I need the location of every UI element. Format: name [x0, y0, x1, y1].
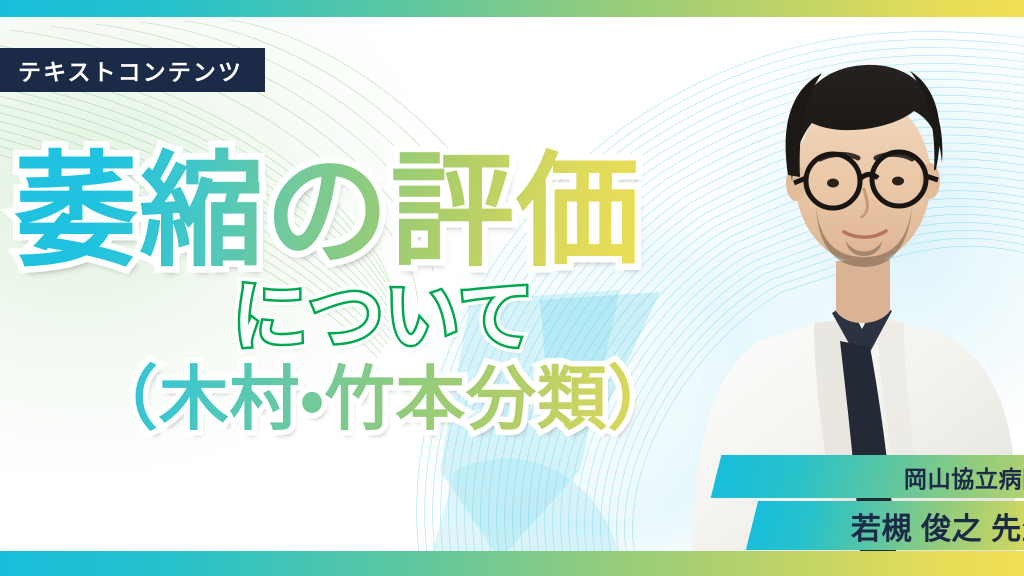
top-gradient-bar: [0, 0, 1024, 17]
headline-block: 萎縮の評価 萎縮の評価 について について （木村・竹本分類） （木村・竹本分類…: [0, 150, 760, 434]
title-sub: について について: [0, 280, 760, 356]
speaker-name-label: 若槻 俊之 先生: [851, 504, 1024, 548]
title-main-text: 萎縮の評価: [14, 143, 641, 281]
speaker-name-banner: 若槻 俊之 先生: [746, 501, 1024, 550]
title-paren-text: （木村・竹本分類）: [88, 360, 678, 438]
title-main: 萎縮の評価 萎縮の評価: [0, 150, 760, 274]
title-paren: （木村・竹本分類） （木村・竹本分類）: [0, 364, 760, 434]
speaker-hospital-label: 岡山協立病院: [904, 460, 1024, 494]
title-slide: テキストコンテンツ 萎縮の評価 萎縮の評価 について について （木村・竹本分類…: [0, 0, 1024, 576]
speaker-hospital-banner: 岡山協立病院: [711, 455, 1024, 498]
kicker-label: テキストコンテンツ: [18, 53, 243, 87]
kicker-badge: テキストコンテンツ: [0, 48, 265, 92]
bottom-gradient-bar: [0, 551, 1024, 576]
title-sub-text: について: [232, 275, 534, 360]
